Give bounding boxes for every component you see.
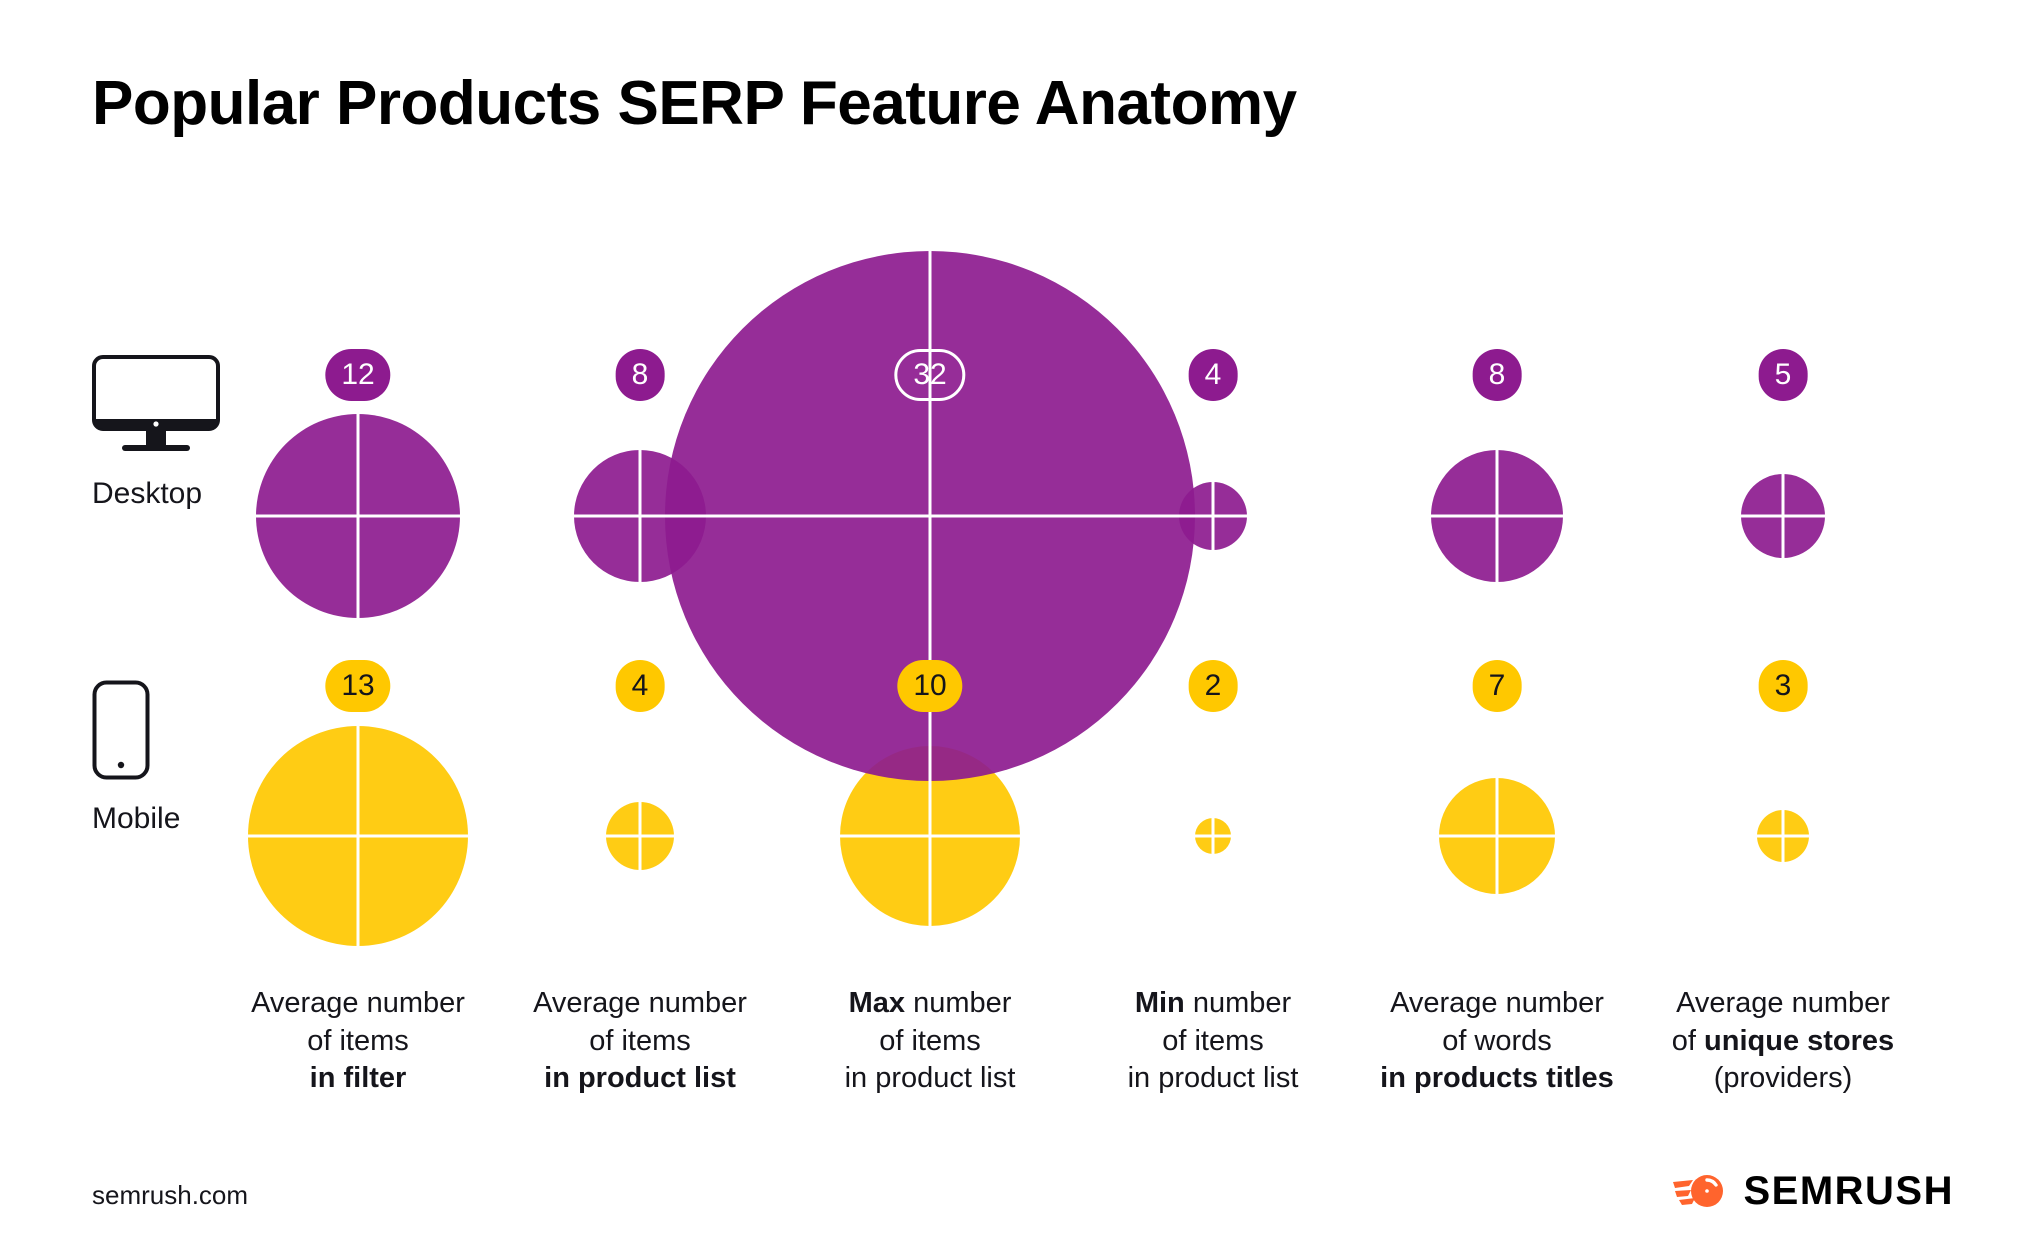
bubble-desktop-5 [1741, 474, 1825, 558]
value-badge-mobile-5: 3 [1759, 660, 1808, 712]
column-caption-1: Average numberof itemsin product list [490, 985, 790, 1098]
column-caption-5: Average numberof unique stores(providers… [1633, 985, 1933, 1098]
bubble-desktop-1 [574, 450, 706, 582]
value-badge-desktop-1: 8 [616, 349, 665, 401]
value-badge-desktop-3: 4 [1189, 349, 1238, 401]
device-label-desktop: Desktop [92, 477, 272, 511]
bubble-mobile-0 [248, 726, 468, 946]
crosshair-group [214, 217, 1843, 980]
semrush-comet-logo-icon [1671, 1168, 1729, 1214]
device-label-mobile: Mobile [92, 802, 272, 836]
value-badge-mobile-4: 7 [1473, 660, 1522, 712]
infographic-canvas: Popular Products SERP Feature Anatomy De… [0, 0, 2020, 1245]
brand-logo: SEMRUSH [1671, 1168, 1954, 1214]
device-legend-desktop: Desktop [92, 355, 272, 511]
value-badge-desktop-5: 5 [1759, 349, 1808, 401]
bubble-desktop-0 [256, 414, 460, 618]
value-badge-mobile-1: 4 [616, 660, 665, 712]
bubble-mobile-4 [1439, 778, 1555, 894]
value-badge-mobile-3: 2 [1189, 660, 1238, 712]
value-badge-desktop-4: 8 [1473, 349, 1522, 401]
column-caption-3: Min numberof itemsin product list [1063, 985, 1363, 1098]
column-caption-4: Average numberof wordsin products titles [1347, 985, 1647, 1098]
phone-icon [92, 680, 150, 780]
bubble-mobile-2 [840, 746, 1020, 926]
bubble-mobile-1 [606, 802, 674, 870]
value-badge-desktop-2: 32 [894, 349, 965, 401]
column-caption-0: Average numberof itemsin filter [208, 985, 508, 1098]
bubble-desktop-4 [1431, 450, 1563, 582]
value-badge-desktop-0: 12 [325, 349, 390, 401]
bubble-group-mobile [248, 726, 1809, 946]
value-badge-mobile-0: 13 [325, 660, 390, 712]
brand-wordmark: SEMRUSH [1743, 1169, 1954, 1214]
bubble-desktop-3 [1179, 482, 1247, 550]
bubble-mobile-3 [1195, 818, 1231, 854]
bubble-mobile-5 [1757, 810, 1809, 862]
value-badge-mobile-2: 10 [897, 660, 962, 712]
column-caption-2: Max numberof itemsin product list [780, 985, 1080, 1098]
monitor-icon [92, 355, 220, 455]
page-title: Popular Products SERP Feature Anatomy [92, 68, 1297, 139]
bubble-group-desktop [256, 251, 1825, 781]
footer-url[interactable]: semrush.com [92, 1180, 248, 1211]
device-legend-mobile: Mobile [92, 680, 272, 836]
